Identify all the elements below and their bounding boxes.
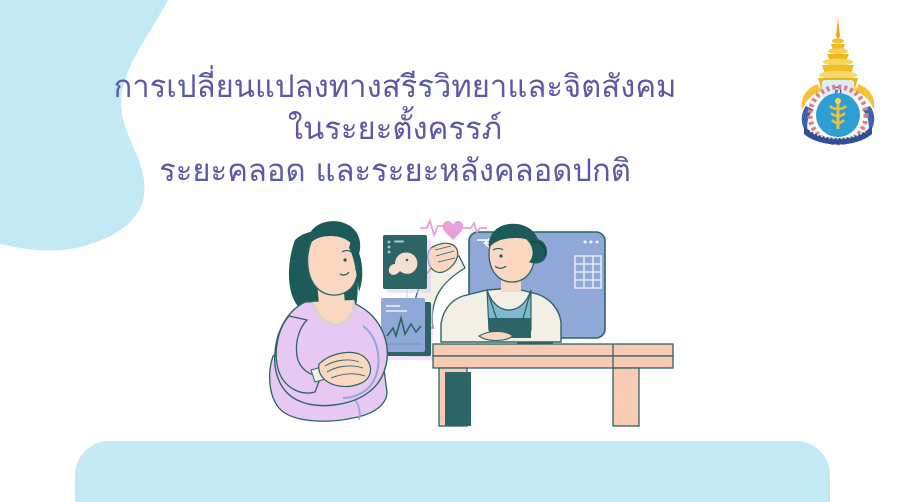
more-dots-icon bbox=[584, 241, 599, 244]
desk bbox=[433, 344, 673, 426]
bottom-accent-panel bbox=[75, 441, 830, 502]
doctor-eye bbox=[499, 254, 502, 257]
consultation-illustration bbox=[255, 206, 675, 436]
chart-card bbox=[381, 298, 433, 360]
page-title: การเปลี่ยนแปลงทางสรีรวิทยาและจิตสังคม ใน… bbox=[0, 66, 790, 192]
title-line-2: ในระยะตั้งครรภ์ bbox=[0, 108, 790, 150]
pregnant-woman-figure bbox=[270, 221, 388, 421]
slide-root: การเปลี่ยนแปลงทางสรีรวิทยาและจิตสังคม ใน… bbox=[0, 0, 900, 502]
ultrasound-card bbox=[383, 235, 431, 293]
title-line-1: การเปลี่ยนแปลงทางสรีรวิทยาและจิตสังคม bbox=[0, 66, 790, 108]
title-line-3: ระยะคลอด และระยะหลังคลอดปกติ bbox=[0, 150, 790, 192]
woman-eye bbox=[343, 258, 346, 261]
university-emblem-logo: อ bbox=[782, 14, 894, 154]
